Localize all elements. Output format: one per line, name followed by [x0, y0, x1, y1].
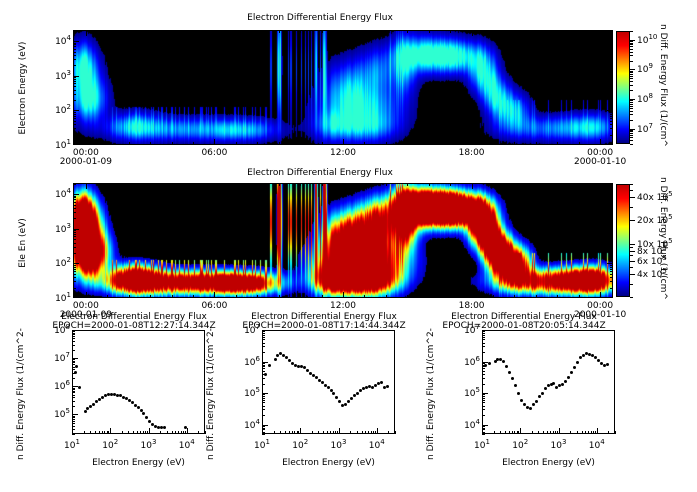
- y-tick-text: 103: [55, 225, 71, 235]
- spectrum-x-minor-2: [518, 431, 519, 434]
- spectrum-data-point: [606, 363, 609, 366]
- spectrum-x-minor-1: [337, 431, 338, 434]
- spectrum-ylabel-2: n Diff. Energy Flux (1/(cm^2-: [426, 322, 436, 466]
- x-major-tick-top: [86, 183, 87, 189]
- spectrum-y-minor-2: [482, 394, 485, 395]
- spectrum-x-minor-0: [185, 431, 186, 434]
- spectrum-y-minor-1: [262, 365, 265, 366]
- colorbar-minor-tick: [630, 41, 633, 42]
- spectrum-data-point: [380, 381, 383, 384]
- spectrum-x-minor-0: [90, 431, 91, 434]
- colorbar-minor-tick: [630, 144, 633, 145]
- y-minor-tick: [73, 77, 76, 78]
- top-colorbar-label: n Diff. Energy Flux (1/(cm^: [658, 24, 668, 154]
- spectrum-x-tick-label-0-0: 101: [54, 438, 90, 451]
- x-major-tick: [600, 139, 601, 145]
- x-minor-tick-top: [493, 183, 494, 186]
- x-minor-tick-top: [172, 30, 173, 33]
- spectrum-x-minor-1: [333, 431, 334, 434]
- colorbar-tick-text: 107: [637, 125, 653, 135]
- colorbar-tick-label-3: 107: [637, 122, 653, 135]
- y-minor-tick: [73, 267, 76, 268]
- spectrum-x-tick-text: 102: [102, 441, 118, 451]
- x-minor-tick-top: [236, 183, 237, 186]
- spectrum-y-minor-2: [482, 406, 485, 407]
- spectrum-ylabel-0: n Diff. Energy Flux (1/(cm^2-: [16, 322, 26, 466]
- y-minor-tick: [73, 79, 76, 80]
- colorbar-minor-tick: [630, 197, 633, 198]
- x-minor-tick-top: [364, 30, 365, 33]
- colorbar-tick-label-2: 108: [637, 92, 653, 105]
- spectrum-x-minor-2: [595, 431, 596, 434]
- y-minor-tick: [73, 243, 76, 244]
- x-major-tick-top: [86, 30, 87, 36]
- y-minor-tick: [73, 135, 76, 136]
- y-minor-tick: [73, 184, 76, 185]
- spectrum-x-tick-label-2-0: 101: [464, 438, 500, 451]
- spectrum-data-point: [597, 359, 600, 362]
- y-minor-tick: [73, 94, 76, 95]
- x-minor-tick: [257, 142, 258, 145]
- y-minor-tick: [73, 112, 76, 113]
- spectrum-data-point: [484, 364, 487, 367]
- x-minor-tick-top: [257, 30, 258, 33]
- y-minor-tick: [73, 208, 76, 209]
- y-minor-tick: [73, 46, 76, 47]
- x-minor-tick-top: [364, 183, 365, 186]
- spectrum-x-minor-0: [181, 431, 182, 434]
- spectrum-x-tick-label-2-2: 103: [541, 438, 577, 451]
- spectrum-x-minor-0: [133, 431, 134, 434]
- y-minor-tick: [73, 44, 76, 45]
- y-minor-tick: [73, 277, 76, 278]
- y-minor-tick: [73, 116, 76, 117]
- x-minor-tick-top: [557, 30, 558, 33]
- middle-panel-title: Electron Differential Energy Flux: [0, 168, 640, 178]
- spectrum-xlabel-0: Electron Energy (eV): [52, 458, 225, 468]
- spectrum-y-minor-1: [262, 400, 265, 401]
- x-minor-tick-top: [300, 30, 301, 33]
- spectrum-x-minor-2: [550, 431, 551, 434]
- y-minor-tick-right: [610, 83, 613, 84]
- spectrum-data-point: [274, 358, 277, 361]
- spectrum-x-minor-0: [147, 431, 148, 434]
- spectrum-x-tick-text: 101: [474, 441, 490, 451]
- spectrum-x-tick-text: 103: [551, 441, 567, 451]
- x-date-left: 2000-01-09: [56, 157, 116, 167]
- spectrum-x-major-1-1: [300, 428, 301, 434]
- spectrum-y-minor-2: [482, 335, 485, 336]
- spectrum-x-minor-2: [585, 431, 586, 434]
- colorbar-minor-tick: [630, 184, 633, 185]
- x-minor-tick: [172, 142, 173, 145]
- colorbar-minor-tick: [630, 274, 633, 275]
- x-minor-tick: [579, 295, 580, 298]
- x-minor-tick: [322, 142, 323, 145]
- spectrum-frame-0: [72, 330, 205, 434]
- x-major-tick: [86, 139, 87, 145]
- spectrum-y-minor-1: [262, 331, 265, 332]
- x-major-tick-top: [214, 183, 215, 189]
- spectrum-y-minor-0: [72, 359, 75, 360]
- spectrum-y-minor-2: [482, 343, 485, 344]
- y-minor-tick-right: [610, 118, 613, 119]
- y-minor-tick: [73, 269, 76, 270]
- y-minor-tick: [73, 265, 76, 266]
- y-minor-tick-right: [610, 184, 613, 185]
- colorbar-minor-tick: [630, 137, 633, 138]
- x-minor-tick: [386, 142, 387, 145]
- spectrum-x-minor-2: [512, 431, 513, 434]
- y-minor-tick: [73, 55, 76, 56]
- spectrum-y-minor-0: [72, 338, 75, 339]
- x-minor-tick: [279, 295, 280, 298]
- y-tick-label-3: 103: [45, 69, 71, 82]
- y-minor-tick-right: [610, 265, 613, 266]
- spectrum-y-minor-0: [72, 406, 75, 407]
- colorbar-minor-tick: [630, 220, 633, 221]
- y-minor-tick-right: [610, 239, 613, 240]
- colorbar-minor-tick: [630, 111, 633, 112]
- spectrum-x-minor-1: [373, 431, 374, 434]
- colorbar-minor-tick: [630, 133, 633, 134]
- spectrum-data-point: [520, 399, 523, 402]
- spectrum-y-minor-0: [72, 334, 75, 335]
- y-minor-tick-right: [610, 79, 613, 80]
- spectrum-data-point: [535, 400, 538, 403]
- spectrum-x-minor-1: [335, 431, 336, 434]
- top-colorbar-frame: [616, 31, 630, 144]
- x-major-tick: [343, 292, 344, 298]
- y-minor-tick-right: [610, 253, 613, 254]
- y-minor-tick-right: [610, 288, 613, 289]
- spectrum-x-minor-1: [357, 431, 358, 434]
- spectrum-x-tick-label-0-2: 103: [131, 438, 167, 451]
- spectrum-y-minor-2: [482, 378, 485, 379]
- spectrum-x-tick-label-0-3: 104: [169, 438, 205, 451]
- x-major-tick-top: [214, 30, 215, 36]
- y-minor-tick: [73, 81, 76, 82]
- spectrum-y-minor-0: [72, 419, 75, 420]
- spectrum-y-minor-0: [72, 333, 75, 334]
- spectrum-x-major-1-3: [377, 428, 378, 434]
- spectrum-y-minor-0: [72, 378, 75, 379]
- x-minor-tick: [107, 142, 108, 145]
- spectrum-x-minor-0: [140, 431, 141, 434]
- spectrum-y-tick-label-1-1: 106: [232, 355, 260, 368]
- x-minor-tick: [557, 142, 558, 145]
- colorbar-minor-tick: [630, 114, 633, 115]
- spectrum-y-minor-2: [482, 368, 485, 369]
- spectrum-data-point: [84, 410, 87, 413]
- x-tick-label-1: 06:00: [194, 148, 234, 158]
- y-minor-tick: [73, 202, 76, 203]
- y-minor-tick-right: [610, 271, 613, 272]
- spectrum-y-tick-label-0-1: 107: [42, 351, 70, 364]
- spectrum-y-minor-2: [482, 337, 485, 338]
- colorbar-tick-label-1: 109: [637, 62, 653, 75]
- x-major-tick: [343, 139, 344, 145]
- spectrum-data-point: [306, 369, 309, 372]
- spectrum-y-tick-label-0-2: 106: [42, 379, 70, 392]
- x-major-tick-top: [600, 183, 601, 189]
- x-minor-tick-top: [407, 30, 408, 33]
- x-minor-tick-top: [150, 183, 151, 186]
- spectrum-x-tick-text: 102: [512, 441, 528, 451]
- x-minor-tick: [429, 142, 430, 145]
- spectrum-y-minor-1: [262, 333, 265, 334]
- spectrum-x-major-1-2: [339, 428, 340, 434]
- x-minor-tick-top: [557, 183, 558, 186]
- spectrum-x-minor-1: [280, 431, 281, 434]
- spectrum-y-tick-text: 104: [464, 421, 480, 431]
- spectrum-y-minor-0: [72, 397, 75, 398]
- y-minor-tick: [73, 271, 76, 272]
- spectrum-y-tick-text: 106: [54, 382, 70, 392]
- x-minor-tick-top: [386, 183, 387, 186]
- spectrum-x-minor-1: [368, 431, 369, 434]
- y-tick-label-4: 104: [45, 34, 71, 47]
- spectrum-x-major-0-0: [72, 428, 73, 434]
- spectrum-ylabel-1: n Diff. Energy Flux (1/(cm^2-: [206, 322, 216, 466]
- colorbar-minor-tick: [630, 100, 633, 101]
- spectrum-y-tick-label-0-0: 108: [42, 323, 70, 336]
- spectrum-x-minor-2: [557, 431, 558, 434]
- x-minor-tick: [322, 295, 323, 298]
- x-minor-tick: [257, 295, 258, 298]
- x-minor-tick: [579, 142, 580, 145]
- spectrum-x-minor-0: [107, 431, 108, 434]
- spectrum-x-tick-label-2-3: 104: [579, 438, 615, 451]
- y-minor-tick: [73, 281, 76, 282]
- colorbar-minor-tick: [630, 43, 633, 44]
- x-major-tick-top: [343, 183, 344, 189]
- spectrum-x-minor-1: [292, 431, 293, 434]
- colorbar-tick-text: 108: [637, 95, 653, 105]
- spectrum-x-tick-text: 101: [254, 441, 270, 451]
- spectrum-x-tick-text: 103: [331, 441, 347, 451]
- x-minor-tick: [514, 295, 515, 298]
- x-minor-tick-top: [236, 30, 237, 33]
- spectrum-x-minor-1: [297, 431, 298, 434]
- x-minor-tick-top: [493, 30, 494, 33]
- colorbar-minor-tick: [630, 255, 633, 256]
- x-minor-tick-top: [107, 30, 108, 33]
- colorbar-minor-tick: [630, 251, 633, 252]
- spectrum-x-minor-2: [532, 431, 533, 434]
- spectrum-x-minor-2: [505, 431, 506, 434]
- y-minor-tick: [73, 43, 76, 44]
- spectrum-x-minor-0: [137, 431, 138, 434]
- spectrum-y-minor-2: [482, 402, 485, 403]
- y-minor-tick: [73, 212, 76, 213]
- y-minor-tick: [73, 90, 76, 91]
- spectrum-x-minor-2: [500, 431, 501, 434]
- y-minor-tick: [73, 232, 76, 233]
- spectrum-x-minor-0: [102, 431, 103, 434]
- spectrum-frame-1: [262, 330, 395, 434]
- figure-canvas: Electron Differential Energy Flux Electr…: [0, 0, 697, 492]
- y-minor-tick: [73, 49, 76, 50]
- spectrum-y-minor-0: [72, 395, 75, 396]
- x-minor-tick: [129, 295, 130, 298]
- spectrum-y-minor-2: [482, 396, 485, 397]
- y-minor-tick: [73, 197, 76, 198]
- y-minor-tick-right: [610, 59, 613, 60]
- spectrum-y-tick-label-2-1: 106: [452, 355, 480, 368]
- colorbar-minor-tick: [630, 76, 633, 77]
- spectrum-x-major-2-3: [597, 428, 598, 434]
- y-minor-tick-right: [610, 230, 613, 231]
- spectrum-y-minor-0: [72, 362, 75, 363]
- spectrum-y-minor-0: [72, 389, 75, 390]
- spectrum-y-minor-1: [262, 415, 265, 416]
- colorbar-minor-tick: [630, 85, 633, 86]
- spectrum-x-minor-1: [274, 431, 275, 434]
- spectrum-y-minor-2: [482, 400, 485, 401]
- y-minor-tick-right: [610, 112, 613, 113]
- spectrum-x-minor-2: [494, 431, 495, 434]
- y-minor-tick-right: [610, 90, 613, 91]
- y-minor-tick: [73, 65, 76, 66]
- colorbar-minor-tick: [630, 31, 633, 32]
- x-minor-tick: [129, 142, 130, 145]
- spectrum-x-minor-0: [95, 431, 96, 434]
- x-minor-tick-top: [579, 183, 580, 186]
- spectrum-x-minor-2: [543, 431, 544, 434]
- spectrum-x-minor-0: [175, 431, 176, 434]
- spectrum-y-minor-1: [262, 363, 265, 364]
- spectrum-y-minor-0: [72, 416, 75, 417]
- spectrum-y-minor-1: [262, 398, 265, 399]
- spectrum-x-tick-label-2-1: 102: [502, 438, 538, 451]
- spectrum-x-tick-text: 104: [589, 441, 605, 451]
- colorbar-minor-tick: [630, 247, 633, 248]
- spectrum-data-point: [74, 371, 77, 374]
- x-minor-tick: [514, 142, 515, 145]
- colorbar-minor-tick: [630, 40, 633, 41]
- spectrum-ylabel-group-0: n Diff. Energy Flux (1/(cm^2-: [16, 324, 160, 334]
- spectrum-x-minor-2: [517, 431, 518, 434]
- x-minor-tick: [172, 295, 173, 298]
- spectrum-x-minor-1: [371, 431, 372, 434]
- y-minor-tick-right: [610, 49, 613, 50]
- x-major-tick-top: [472, 183, 473, 189]
- spectrum-data-point: [264, 373, 267, 376]
- spectrum-y-minor-1: [262, 394, 265, 395]
- spectrum-x-minor-0: [198, 431, 199, 434]
- y-minor-tick-right: [610, 218, 613, 219]
- spectrum-y-tick-text: 107: [464, 326, 480, 336]
- spectrum-y-minor-0: [72, 391, 75, 392]
- y-minor-tick: [73, 253, 76, 254]
- spectrum-x-tick-label-1-0: 101: [244, 438, 280, 451]
- colorbar-minor-tick: [630, 74, 633, 75]
- x-minor-tick-top: [257, 183, 258, 186]
- spectrum-y-minor-0: [72, 345, 75, 346]
- spectrum-y-minor-1: [262, 371, 265, 372]
- spectrum-y-minor-1: [262, 409, 265, 410]
- colorbar-minor-tick: [630, 130, 633, 131]
- spectrum-y-tick-label-2-2: 105: [452, 386, 480, 399]
- spectrum-y-minor-0: [72, 401, 75, 402]
- colorbar-minor-tick: [630, 104, 633, 105]
- y-minor-tick: [73, 31, 76, 32]
- spectrum-x-minor-2: [608, 431, 609, 434]
- spectrum-x-minor-1: [362, 431, 363, 434]
- x-minor-tick: [493, 142, 494, 145]
- spectrum-y-minor-2: [482, 346, 485, 347]
- spectrum-x-minor-1: [318, 431, 319, 434]
- y-tick-label-2: 102: [45, 256, 71, 269]
- middle-panel-frame: [73, 183, 613, 298]
- spectrum-y-minor-2: [482, 331, 485, 332]
- spectrum-y-minor-1: [262, 337, 265, 338]
- y-minor-tick-right: [610, 77, 613, 78]
- spectrum-y-tick-label-0-3: 105: [42, 407, 70, 420]
- spectrum-y-tick-text: 105: [244, 389, 260, 399]
- spectrum-x-major-2-0: [482, 428, 483, 434]
- y-minor-tick-right: [610, 267, 613, 268]
- spectrum-x-minor-2: [509, 431, 510, 434]
- spectrum-y-minor-1: [262, 378, 265, 379]
- spectrum-y-minor-2: [482, 352, 485, 353]
- spectrum-y-minor-2: [482, 409, 485, 410]
- spectrum-y-minor-1: [262, 396, 265, 397]
- x-minor-tick-top: [150, 30, 151, 33]
- colorbar-minor-tick: [630, 90, 633, 91]
- spectrum-x-minor-2: [538, 431, 539, 434]
- spectrum-x-tick-label-1-3: 104: [359, 438, 395, 451]
- x-minor-tick: [407, 295, 408, 298]
- colorbar-minor-tick: [630, 102, 633, 103]
- colorbar-minor-tick: [630, 140, 633, 141]
- colorbar-minor-tick: [630, 61, 633, 62]
- top-colorbar-label-group: n Diff. Energy Flux (1/(cm^: [668, 24, 697, 34]
- x-major-tick: [472, 139, 473, 145]
- spectrum-data-point: [505, 365, 508, 368]
- spectrum-y-minor-0: [72, 336, 75, 337]
- spectrum-y-tick-text: 108: [54, 326, 70, 336]
- x-minor-tick: [236, 142, 237, 145]
- spectrum-y-minor-0: [72, 350, 75, 351]
- middle-colorbar-frame: [616, 184, 630, 297]
- spectrum-x-tick-text: 103: [141, 441, 157, 451]
- y-minor-tick-right: [610, 31, 613, 32]
- x-minor-tick: [150, 295, 151, 298]
- spectrum-y-tick-text: 106: [464, 358, 480, 368]
- spectrum-x-minor-2: [577, 431, 578, 434]
- x-minor-tick-top: [536, 30, 537, 33]
- spectrum-x-minor-0: [183, 431, 184, 434]
- spectrum-x-tick-label-1-2: 103: [321, 438, 357, 451]
- y-minor-tick-right: [610, 269, 613, 270]
- spectrum-x-major-0-3: [187, 428, 188, 434]
- spectrum-x-major-2-1: [520, 428, 521, 434]
- y-minor-tick: [73, 247, 76, 248]
- spectrum-x-minor-2: [570, 431, 571, 434]
- y-minor-tick-right: [610, 52, 613, 53]
- spectrum-x-minor-0: [108, 431, 109, 434]
- y-minor-tick-right: [610, 124, 613, 125]
- spectrum-x-minor-1: [289, 431, 290, 434]
- x-tick-label-3: 18:00: [452, 301, 492, 311]
- x-minor-tick-top: [193, 30, 194, 33]
- spectrum-data-point: [529, 407, 532, 410]
- spectrum-x-minor-0: [84, 431, 85, 434]
- spectrum-y-minor-1: [262, 384, 265, 385]
- colorbar-minor-tick: [630, 71, 633, 72]
